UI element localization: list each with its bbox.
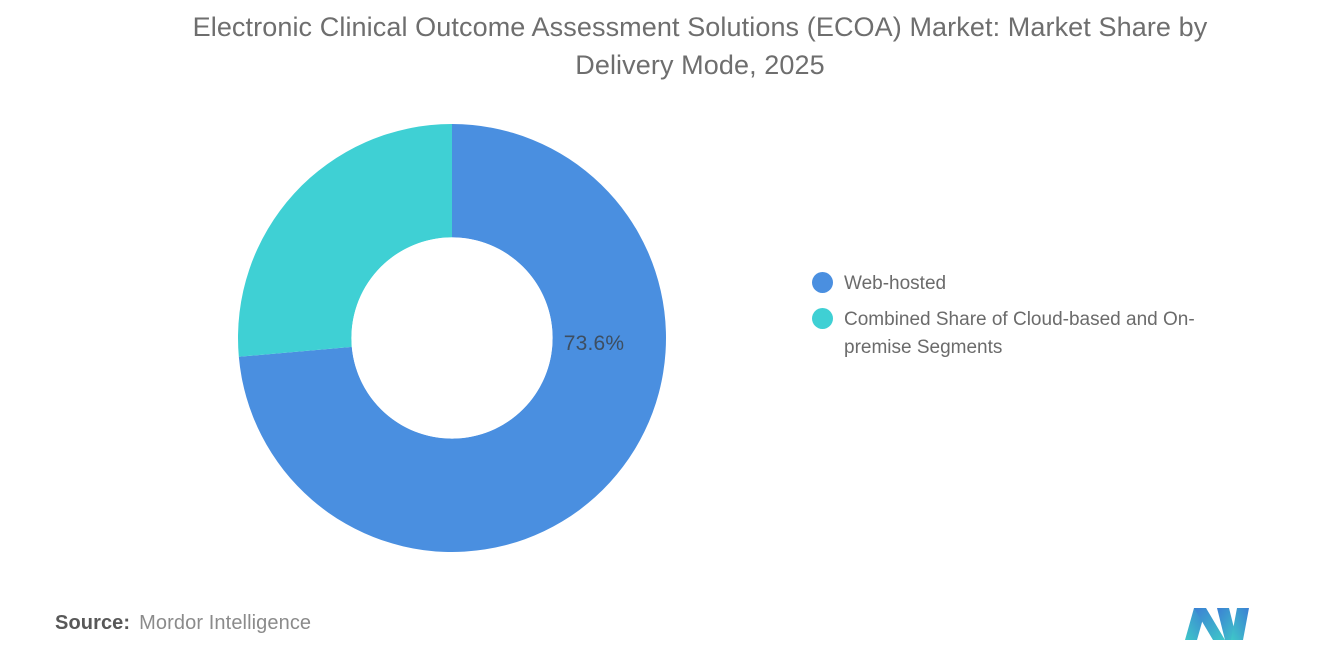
mi-monogram-icon [1185, 598, 1253, 640]
legend-label-web-hosted: Web-hosted [844, 270, 946, 298]
legend-label-combined-cloud-onpremise: Combined Share of Cloud-based and On-pre… [844, 306, 1224, 362]
legend-swatch-icon-web-hosted [812, 272, 833, 293]
slice-value-label-web-hosted: 73.6% [534, 332, 654, 356]
chart-title: Electronic Clinical Outcome Assessment S… [170, 8, 1230, 85]
source-attribution: Source: Mordor Intelligence [55, 612, 311, 635]
mordor-intelligence-logo-icon [1185, 598, 1253, 640]
chart-figure: Electronic Clinical Outcome Assessment S… [0, 0, 1320, 665]
legend-item-combined-cloud-onpremise[interactable]: Combined Share of Cloud-based and On-pre… [812, 306, 1242, 362]
source-label: Source: [55, 612, 130, 635]
source-value: Mordor Intelligence [139, 612, 311, 635]
donut-chart-plot-area: 73.6% [238, 118, 668, 558]
chart-legend: Web-hosted Combined Share of Cloud-based… [812, 270, 1242, 370]
legend-item-web-hosted[interactable]: Web-hosted [812, 270, 1242, 298]
legend-swatch-icon-combined-cloud-onpremise [812, 308, 833, 329]
donut-center-hole [351, 237, 552, 438]
